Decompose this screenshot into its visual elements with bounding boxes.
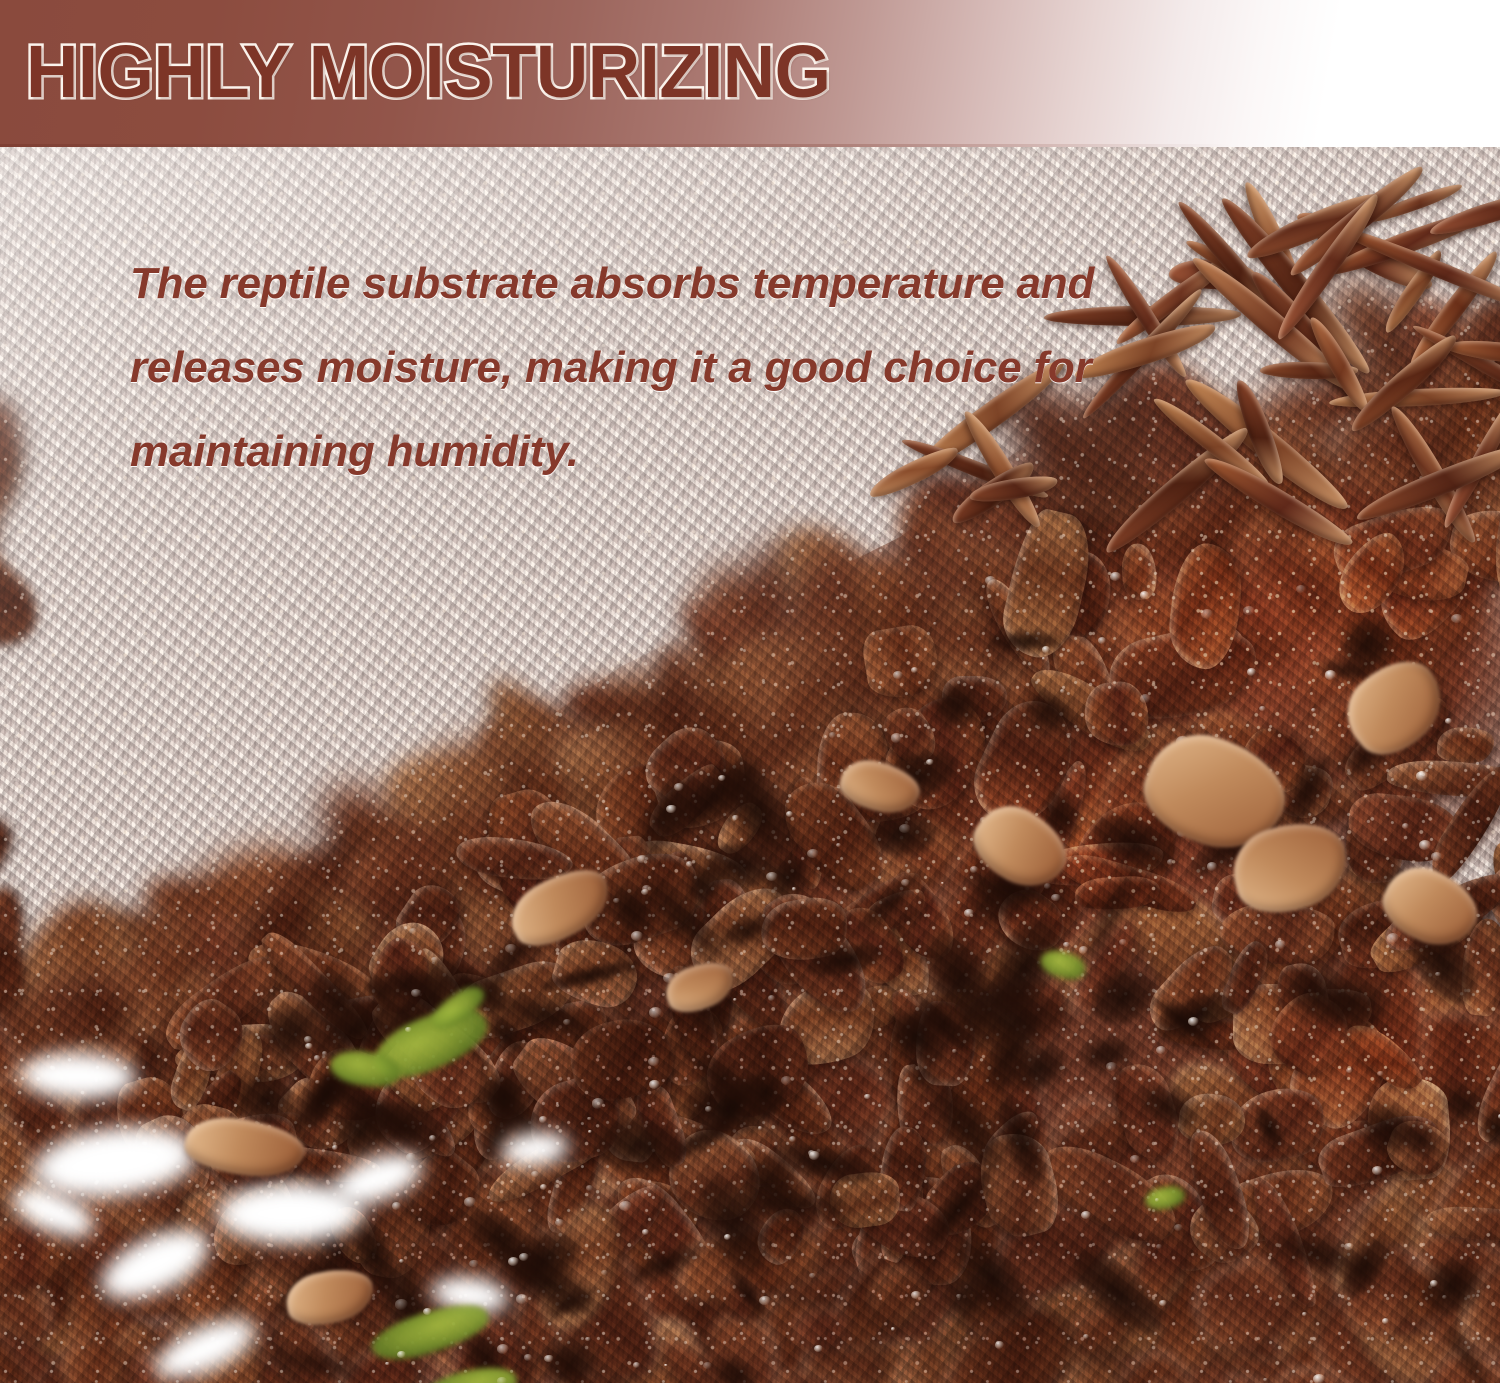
water-droplet xyxy=(556,1102,559,1105)
water-droplet xyxy=(1302,1312,1307,1316)
water-droplet xyxy=(1382,1318,1389,1324)
water-droplet xyxy=(1416,771,1428,781)
water-droplet xyxy=(864,1094,871,1099)
water-droplet xyxy=(891,733,903,743)
water-droplet xyxy=(540,1184,547,1190)
water-droplet xyxy=(1471,1170,1475,1173)
water-droplet xyxy=(469,1260,479,1268)
water-droplet xyxy=(941,882,944,885)
water-droplet xyxy=(1201,609,1213,619)
water-droplet xyxy=(1156,1244,1162,1249)
water-droplet xyxy=(505,944,517,954)
water-droplet xyxy=(429,1135,436,1141)
water-droplet xyxy=(733,998,737,1001)
water-droplet xyxy=(637,855,647,863)
water-droplet xyxy=(964,909,973,917)
water-droplet xyxy=(314,1055,321,1060)
water-droplet xyxy=(985,576,996,585)
water-droplet xyxy=(354,1201,360,1206)
water-droplet xyxy=(809,1273,815,1278)
water-droplet xyxy=(732,815,739,820)
water-droplet xyxy=(601,1270,608,1275)
moss-patch xyxy=(1143,1184,1186,1213)
water-droplet xyxy=(1247,668,1256,675)
water-droplet xyxy=(633,1362,640,1368)
water-droplet xyxy=(995,1341,1005,1349)
bark-crevice xyxy=(622,1237,708,1290)
water-droplet xyxy=(555,1219,564,1226)
description-text: The reptile substrate absorbs temperatur… xyxy=(130,242,1170,494)
water-droplet xyxy=(1372,1166,1383,1175)
bark-crevice xyxy=(1412,1249,1492,1325)
water-droplet xyxy=(332,1145,338,1150)
water-droplet xyxy=(766,872,778,882)
water-droplet xyxy=(585,1337,591,1342)
water-droplet xyxy=(642,1229,649,1234)
water-droplet xyxy=(1130,1155,1140,1163)
water-droplet xyxy=(516,1294,528,1304)
header-banner: HIGHLY MOISTURIZING xyxy=(0,0,1500,147)
water-droplet xyxy=(1419,840,1431,850)
bark-crevice xyxy=(986,631,1061,653)
water-droplet xyxy=(1188,1017,1199,1026)
water-droplet xyxy=(631,931,644,941)
water-droplet xyxy=(649,1007,662,1017)
water-droplet xyxy=(1081,1211,1091,1219)
water-droplet xyxy=(1311,708,1316,712)
water-droplet xyxy=(933,622,937,625)
water-droplet xyxy=(399,1259,404,1263)
water-droplet xyxy=(586,1185,593,1190)
water-droplet xyxy=(1066,733,1072,738)
bark-crevice xyxy=(1132,1076,1206,1137)
water-droplet xyxy=(810,1132,813,1135)
water-droplet xyxy=(423,1308,432,1315)
water-droplet xyxy=(1098,637,1106,643)
water-droplet xyxy=(1083,1334,1089,1339)
water-droplet xyxy=(926,759,934,765)
water-droplet xyxy=(587,1117,592,1121)
water-droplet xyxy=(868,1216,871,1219)
water-droplet xyxy=(1451,614,1463,623)
background-gap xyxy=(146,1306,264,1383)
water-droplet xyxy=(524,1354,532,1360)
water-droplet xyxy=(1167,859,1174,865)
bark-crevice xyxy=(805,938,887,982)
water-droplet xyxy=(808,1150,815,1156)
water-droplet xyxy=(1140,591,1149,598)
water-droplet xyxy=(891,1327,896,1331)
bark-crevice xyxy=(1079,863,1143,968)
water-droplet xyxy=(1431,852,1443,861)
water-droplet xyxy=(1042,646,1050,652)
water-droplet xyxy=(592,1098,605,1108)
water-droplet xyxy=(703,1362,712,1369)
water-droplet xyxy=(385,1362,390,1366)
bark-crevice xyxy=(854,864,926,936)
bark-crevice xyxy=(928,677,984,733)
bark-crevice xyxy=(1440,1320,1497,1383)
water-droplet xyxy=(1243,606,1255,616)
water-droplet xyxy=(893,671,903,679)
water-droplet xyxy=(619,1201,632,1211)
water-droplet xyxy=(1296,585,1307,593)
water-droplet xyxy=(1159,1300,1167,1306)
water-droplet xyxy=(1442,1295,1447,1299)
water-droplet xyxy=(1259,706,1266,711)
water-droplet xyxy=(464,1197,476,1207)
bark-crevice xyxy=(707,1348,764,1383)
description-line-1: The reptile substrate absorbs temperatur… xyxy=(130,242,1170,326)
water-droplet xyxy=(664,1364,667,1367)
water-droplet xyxy=(1110,572,1121,581)
water-droplet xyxy=(1119,939,1126,945)
water-droplet xyxy=(970,866,978,873)
water-droplet xyxy=(666,805,676,813)
water-droplet xyxy=(789,1136,796,1142)
bark-crevice xyxy=(538,955,644,997)
water-droplet xyxy=(786,811,794,817)
water-droplet xyxy=(640,785,643,788)
water-droplet xyxy=(405,1027,411,1032)
water-droplet xyxy=(1063,942,1070,947)
water-droplet xyxy=(1042,657,1045,660)
water-droplet xyxy=(1377,1071,1384,1077)
water-droplet xyxy=(781,1076,792,1085)
water-droplet xyxy=(531,1171,540,1178)
bark-crevice xyxy=(1061,1238,1174,1348)
water-droplet xyxy=(1275,940,1286,949)
water-droplet xyxy=(807,849,819,859)
water-droplet xyxy=(1445,718,1452,724)
water-droplet xyxy=(1344,1243,1354,1251)
water-droplet xyxy=(1325,670,1337,679)
description-line-3: maintaining humidity. xyxy=(130,410,1170,494)
water-droplet xyxy=(1106,1062,1117,1071)
water-droplet xyxy=(1060,689,1064,693)
water-droplet xyxy=(759,1296,771,1306)
water-droplet xyxy=(1079,946,1088,953)
bark-crevice xyxy=(1251,1103,1289,1153)
background-gap xyxy=(17,1050,138,1101)
water-droplet xyxy=(322,1051,327,1055)
water-droplet xyxy=(1174,1224,1183,1231)
bark-crevice xyxy=(1278,750,1337,830)
water-droplet xyxy=(497,1344,510,1354)
water-droplet xyxy=(1435,972,1440,976)
water-droplet xyxy=(1228,656,1232,659)
water-droplet xyxy=(1140,694,1151,703)
water-droplet xyxy=(792,887,796,890)
bark-crevice xyxy=(590,1115,686,1179)
water-droplet xyxy=(911,667,918,673)
water-droplet xyxy=(705,1106,712,1111)
product-infographic-page: HIGHLY MOISTURIZING The reptile substrat… xyxy=(0,0,1500,1383)
water-droplet xyxy=(724,1234,732,1240)
water-droplet xyxy=(674,783,684,791)
water-droplet xyxy=(1051,894,1060,902)
water-droplet xyxy=(315,1080,320,1084)
water-droplet xyxy=(836,843,841,847)
water-droplet xyxy=(758,1126,762,1129)
description-line-2: releases moisture, making it a good choi… xyxy=(130,326,1170,410)
water-droplet xyxy=(397,1351,406,1358)
water-droplet xyxy=(648,1057,660,1067)
water-droplet xyxy=(768,995,776,1001)
water-droplet xyxy=(605,807,610,811)
background-gap xyxy=(89,1214,221,1314)
water-droplet xyxy=(829,732,836,737)
water-droplet xyxy=(1155,1198,1160,1202)
water-droplet xyxy=(641,889,649,895)
water-droplet xyxy=(304,1036,313,1043)
water-droplet xyxy=(588,1130,591,1133)
water-droplet xyxy=(395,1299,408,1309)
water-droplet xyxy=(490,1202,494,1205)
bark-crevice xyxy=(867,813,937,857)
water-droplet xyxy=(952,1049,956,1053)
water-droplet xyxy=(305,1043,312,1049)
water-droplet xyxy=(1149,933,1155,938)
water-droplet xyxy=(539,1116,547,1122)
water-droplet xyxy=(497,1377,506,1383)
water-droplet xyxy=(814,1345,823,1352)
water-droplet xyxy=(686,861,693,867)
bark-crevice xyxy=(1083,960,1165,1036)
water-droplet xyxy=(392,1202,402,1210)
bark-crevice xyxy=(717,910,775,952)
water-droplet xyxy=(911,1291,921,1299)
water-droplet xyxy=(506,1163,511,1167)
water-droplet xyxy=(1346,1068,1353,1073)
water-droplet xyxy=(970,823,974,826)
water-droplet xyxy=(1313,1374,1326,1383)
water-droplet xyxy=(409,928,416,934)
water-droplet xyxy=(1402,823,1410,829)
water-droplet xyxy=(1263,1378,1267,1382)
water-droplet xyxy=(1156,1046,1166,1054)
page-title: HIGHLY MOISTURIZING xyxy=(26,24,831,120)
water-droplet xyxy=(494,895,499,899)
water-droplet xyxy=(649,1080,660,1088)
water-droplet xyxy=(406,1153,416,1161)
bark-crevice xyxy=(268,1345,369,1383)
water-droplet xyxy=(1387,933,1399,943)
